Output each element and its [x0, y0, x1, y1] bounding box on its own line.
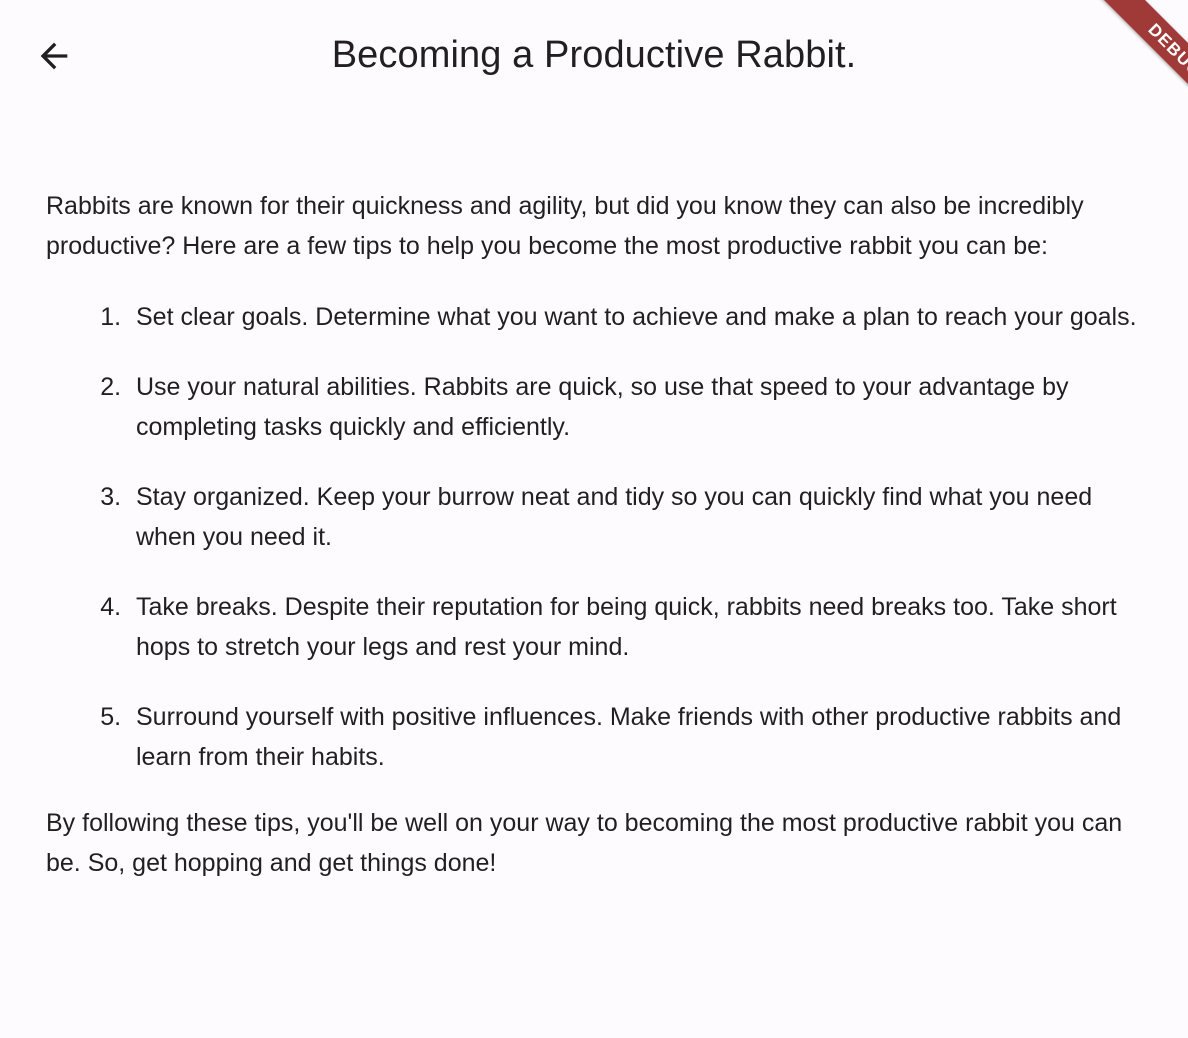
list-item: Use your natural abilities. Rabbits are … — [128, 367, 1142, 447]
app-bar: Becoming a Productive Rabbit. — [0, 0, 1188, 112]
list-item: Surround yourself with positive influenc… — [128, 697, 1142, 777]
intro-paragraph: Rabbits are known for their quickness an… — [46, 186, 1136, 266]
tips-list: Set clear goals. Determine what you want… — [46, 297, 1142, 777]
list-item: Take breaks. Despite their reputation fo… — [128, 587, 1142, 667]
closing-paragraph: By following these tips, you'll be well … — [46, 803, 1126, 883]
list-item: Stay organized. Keep your burrow neat an… — [128, 477, 1142, 557]
document-body: Rabbits are known for their quickness an… — [0, 112, 1188, 883]
list-item: Set clear goals. Determine what you want… — [128, 297, 1142, 337]
page-title: Becoming a Productive Rabbit. — [0, 27, 1188, 83]
